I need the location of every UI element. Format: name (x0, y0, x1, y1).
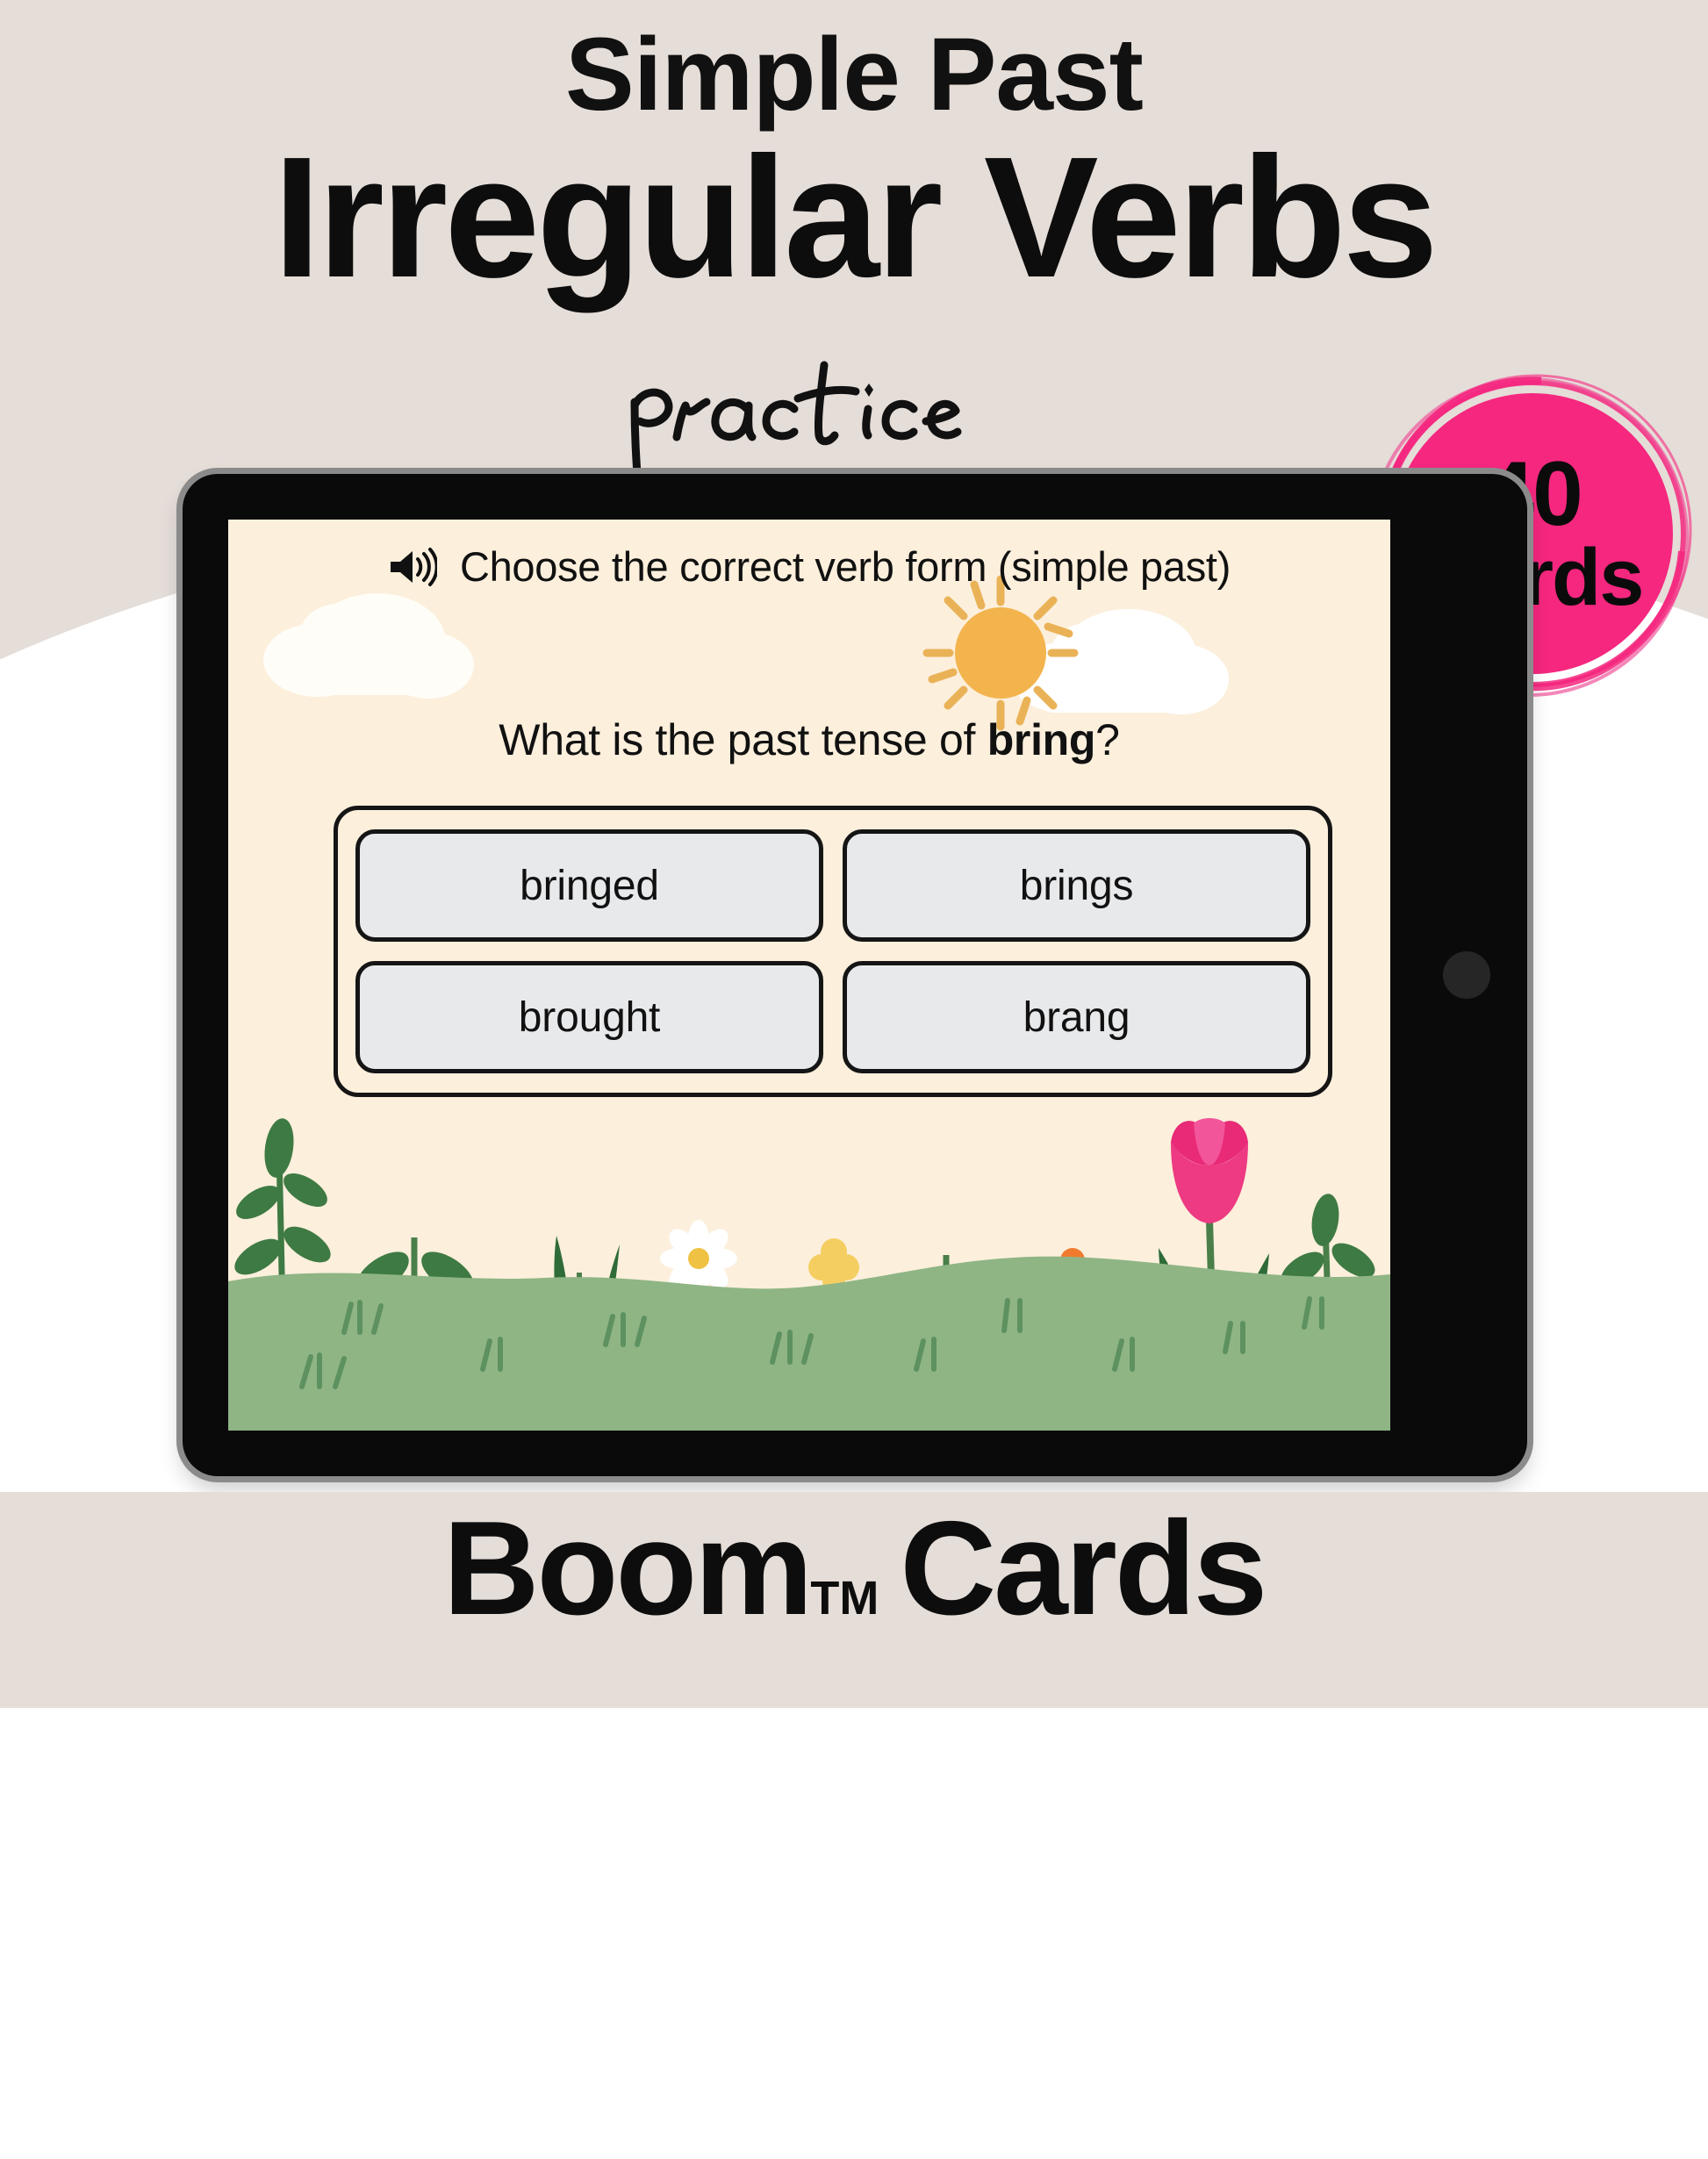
answer-option-1[interactable]: bringed (355, 829, 823, 942)
answer-option-3[interactable]: brought (355, 961, 823, 1073)
speaker-icon[interactable] (388, 547, 437, 587)
poster-title-block: Simple Past Irregular Verbs (0, 0, 1708, 305)
question-prefix: What is the past tense of (499, 715, 987, 764)
tablet-device: Choose the correct verb form (simple pas… (183, 474, 1527, 1476)
card-header: Choose the correct verb form (simple pas… (228, 542, 1390, 591)
boom-card-screen: Choose the correct verb form (simple pas… (228, 520, 1390, 1431)
question-suffix: ? (1095, 715, 1120, 764)
home-button-icon[interactable] (1443, 951, 1490, 999)
tulip-icon (1171, 1118, 1248, 1223)
answer-option-2[interactable]: brings (843, 829, 1310, 942)
footer-trademark: TM (810, 1571, 879, 1625)
title-irregular-verbs: Irregular Verbs (0, 130, 1708, 305)
answer-option-4[interactable]: brang (843, 961, 1310, 1073)
card-prompt-text: Choose the correct verb form (simple pas… (460, 542, 1231, 591)
question-verb: bring (987, 715, 1095, 764)
footer-band: BoomTMCards (0, 1492, 1708, 1708)
card-question: What is the past tense of bring? (228, 714, 1390, 765)
footer-word: Cards (900, 1492, 1265, 1646)
footer-brand: Boom (443, 1492, 811, 1646)
cloud-left-icon (255, 574, 483, 706)
title-simple-past: Simple Past (0, 23, 1708, 126)
answer-options-panel: bringed brings brought brang (334, 806, 1332, 1097)
